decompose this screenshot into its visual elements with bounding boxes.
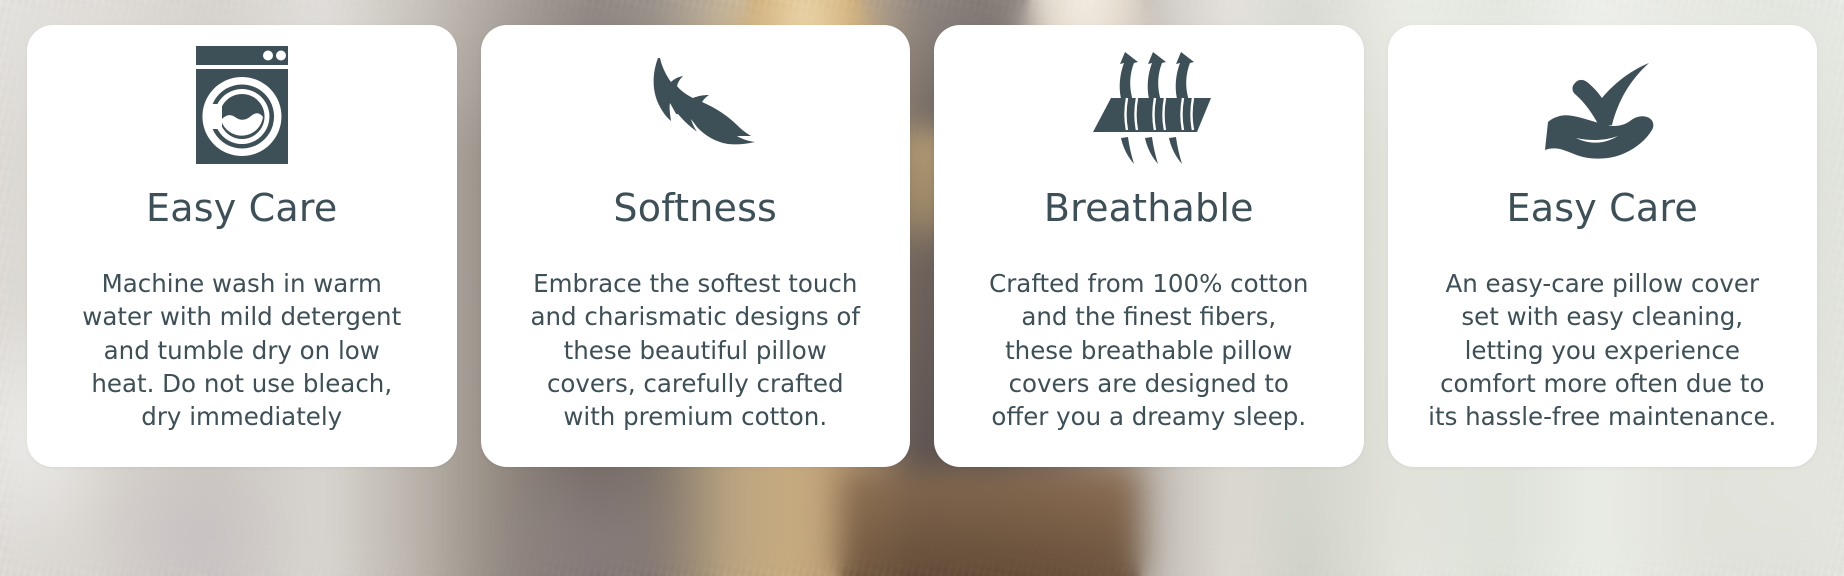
breathable-airflow-icon xyxy=(1087,35,1211,175)
feature-card-list: Easy Care Machine wash in warm water wit… xyxy=(0,0,1844,576)
feature-card-softness[interactable]: Softness Embrace the softest touch and c… xyxy=(481,25,911,467)
card-title: Easy Care xyxy=(146,189,337,227)
card-body: Crafted from 100% cotton and the finest … xyxy=(984,267,1314,434)
feather-icon xyxy=(624,35,766,175)
card-title: Breathable xyxy=(1044,189,1254,227)
card-body: An easy-care pillow cover set with easy … xyxy=(1427,267,1777,434)
card-title: Softness xyxy=(613,189,777,227)
card-title: Easy Care xyxy=(1507,189,1698,227)
hand-with-check-icon xyxy=(1532,35,1672,175)
feature-card-easy-care-alt[interactable]: Easy Care An easy-care pillow cover set … xyxy=(1388,25,1818,467)
feature-card-breathable[interactable]: Breathable Crafted from 100% cotton and … xyxy=(934,25,1364,467)
feature-cards-banner: Easy Care Machine wash in warm water wit… xyxy=(0,0,1844,576)
card-body: Embrace the softest touch and charismati… xyxy=(530,267,860,434)
feature-card-easy-care[interactable]: Easy Care Machine wash in warm water wit… xyxy=(27,25,457,467)
washing-machine-icon xyxy=(194,35,290,175)
card-body: Machine wash in warm water with mild det… xyxy=(77,267,407,434)
